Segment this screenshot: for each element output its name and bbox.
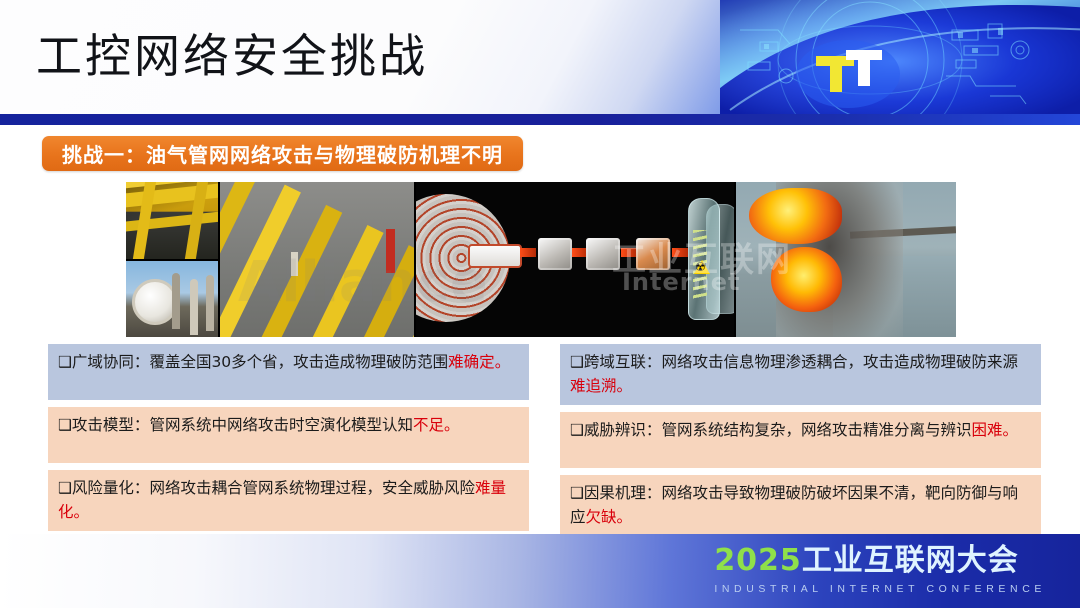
point-label: 风险量化 xyxy=(72,479,134,497)
point-highlight: 难确定 xyxy=(448,353,495,371)
point-highlight: 欠缺 xyxy=(586,508,617,526)
pipeline-photo-group xyxy=(126,182,414,337)
point-highlight: 难追溯 xyxy=(570,377,617,395)
conference-logo-subtitle: INDUSTRIAL INTERNET CONFERENCE xyxy=(714,583,1046,595)
conference-logo-year: 2025 xyxy=(714,543,802,578)
attack-arrow-icon xyxy=(520,248,536,257)
point-label: 威胁辨识 xyxy=(584,421,646,439)
point-body-tail: 。 xyxy=(617,508,633,526)
point-separator: ： xyxy=(646,353,662,371)
slide-footer: 2025工业互联网大会 INDUSTRIAL INTERNET CONFEREN… xyxy=(0,534,1080,608)
point-box-wide-area-coordination: ❑广域协同：覆盖全国30多个省，攻击造成物理破防范围难确定。 xyxy=(48,344,529,400)
point-box-causal-mechanism: ❑因果机理：网络攻击导致物理破防破坏因果不清，靶向防御与响应欠缺。 xyxy=(560,475,1041,536)
point-body-tail: 。 xyxy=(74,503,90,521)
fireball-lower xyxy=(771,247,841,312)
bullet-glyph: ❑ xyxy=(570,421,584,439)
point-body: 覆盖全国30多个省，攻击造成物理破防范围 xyxy=(149,353,448,371)
point-box-threat-identification: ❑威胁辨识：管网系统结构复杂，网络攻击精准分离与辨识困难。 xyxy=(560,412,1041,468)
bullet-glyph: ❑ xyxy=(58,416,72,434)
attack-arrow-icon xyxy=(621,248,637,257)
presentation-slide: 工控网络安全挑战 挑战一：油气管网网络攻击与物理破防机理不明 xyxy=(0,0,1080,608)
page-title: 工控网络安全挑战 xyxy=(36,20,428,86)
bullet-glyph: ❑ xyxy=(58,479,72,497)
point-separator: ： xyxy=(646,484,662,502)
cyber-attack-chain-diagram xyxy=(416,182,734,337)
bullet-glyph: ❑ xyxy=(570,484,584,502)
slide-header: 工控网络安全挑战 xyxy=(0,0,1080,118)
point-label: 因果机理 xyxy=(584,484,646,502)
point-highlight: 困难 xyxy=(971,421,1002,439)
conference-logo: 2025工业互联网大会 INDUSTRIAL INTERNET CONFEREN… xyxy=(714,546,1046,595)
point-body: 网络攻击信息物理渗透耦合，攻击造成物理破防来源 xyxy=(661,353,1018,371)
point-box-attack-model: ❑攻击模型：管网系统中网络攻击时空演化模型认知不足。 xyxy=(48,407,529,463)
challenge-banner: 挑战一：油气管网网络攻击与物理破防机理不明 xyxy=(42,136,523,171)
usb-drive-icon xyxy=(468,244,522,268)
pressure-gauge-refinery-photo xyxy=(126,261,218,338)
point-separator: ： xyxy=(134,353,150,371)
bullet-glyph: ❑ xyxy=(58,353,72,371)
challenge-banner-label: 挑战一：油气管网网络攻击与物理破防机理不明 xyxy=(62,139,503,168)
point-body: 网络攻击耦合管网系统物理过程，安全威胁风险 xyxy=(149,479,475,497)
conference-logo-cn: 工业互联网大会 xyxy=(802,543,1019,578)
control-node-2 xyxy=(586,238,620,270)
image-strip xyxy=(126,182,956,337)
point-label: 跨域互联 xyxy=(584,353,646,371)
point-body-tail: 。 xyxy=(444,416,460,434)
fireball-upper xyxy=(749,188,841,244)
point-body-tail: 。 xyxy=(617,377,633,395)
radiation-hazard-icon xyxy=(694,260,710,274)
tech-circuit-globe-graphic xyxy=(720,0,1080,118)
point-separator: ： xyxy=(646,421,662,439)
point-body: 管网系统中网络攻击时空演化模型认知 xyxy=(149,416,413,434)
point-body-tail: 。 xyxy=(1002,421,1018,439)
left-column: ❑广域协同：覆盖全国30多个省，攻击造成物理破防范围难确定。 ❑攻击模型：管网系… xyxy=(48,344,529,538)
point-label: 攻击模型 xyxy=(72,416,134,434)
title-underline-rule xyxy=(0,114,1080,125)
right-column: ❑跨域互联：网络攻击信息物理渗透耦合，攻击造成物理破防来源难追溯。 ❑威胁辨识：… xyxy=(560,344,1041,543)
gas-pipeline-network-photo xyxy=(220,182,414,337)
industrial-explosion-photo xyxy=(736,182,956,337)
point-separator: ： xyxy=(134,416,150,434)
point-box-cross-domain-interconnection: ❑跨域互联：网络攻击信息物理渗透耦合，攻击造成物理破防来源难追溯。 xyxy=(560,344,1041,405)
conference-logo-main: 2025工业互联网大会 xyxy=(714,546,1019,576)
point-label: 广域协同 xyxy=(72,353,134,371)
point-body: 管网系统结构复杂，网络攻击精准分离与辨识 xyxy=(661,421,971,439)
plc-node xyxy=(636,238,670,270)
bullet-glyph: ❑ xyxy=(570,353,584,371)
control-node-1 xyxy=(538,238,572,270)
gas-pipeline-rack-photo xyxy=(126,182,218,259)
point-highlight: 不足 xyxy=(413,416,444,434)
point-body-tail: 。 xyxy=(495,353,511,371)
point-box-risk-quantification: ❑风险量化：网络攻击耦合管网系统物理过程，安全威胁风险难量化。 xyxy=(48,470,529,531)
point-separator: ： xyxy=(134,479,150,497)
attack-arrow-icon xyxy=(672,248,688,257)
